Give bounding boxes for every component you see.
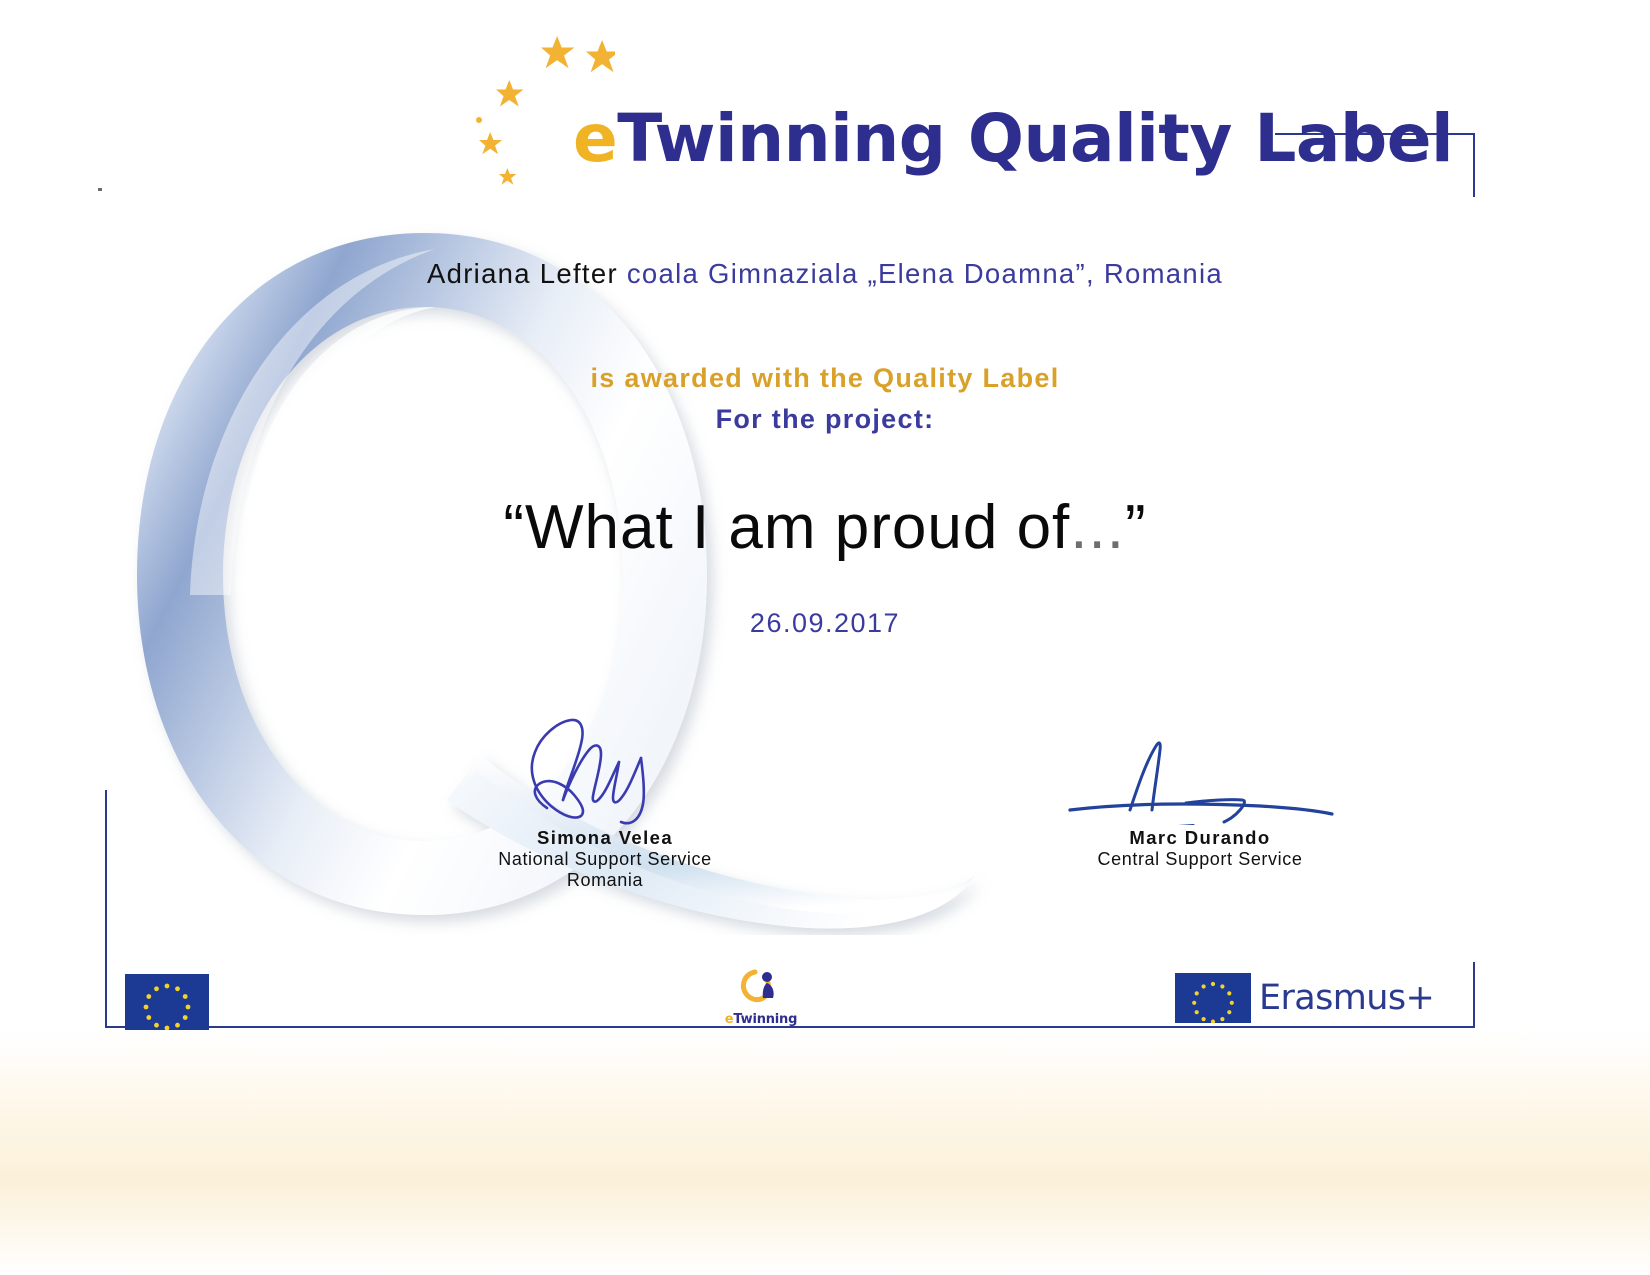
quote-open: “: [503, 493, 525, 562]
certificate-page: eTwinning Quality Label Adriana Lefter c…: [0, 0, 1650, 1275]
award-date: 26.09.2017: [0, 608, 1650, 639]
quote-close: ”: [1125, 493, 1147, 562]
project-title-ellipsis: ...: [1070, 493, 1125, 562]
european-union-flag-icon: [1175, 973, 1251, 1023]
signature-role-line2: Romania: [400, 870, 810, 891]
signature-role-line1: Central Support Service: [980, 849, 1420, 870]
recipient-school: coala Gimnaziala „Elena Doamna”, Romania: [627, 258, 1223, 289]
handwritten-signature-icon: [505, 700, 705, 825]
etwinning-caption-rest: Twinning: [733, 1012, 797, 1027]
signature-name: Marc Durando: [980, 827, 1420, 849]
etwinning-footer-logo: eTwinning: [702, 968, 820, 1028]
signature-name: Simona Velea: [400, 827, 810, 849]
handwritten-signature-icon: [1060, 710, 1340, 825]
signature-block-left: Simona Velea National Support Service Ro…: [400, 700, 810, 891]
etwinning-logo-icon: [737, 968, 785, 1008]
recipient-line: Adriana Lefter coala Gimnaziala „Elena D…: [0, 258, 1650, 290]
award-statement: is awarded with the Quality Label: [0, 363, 1650, 394]
logo-wordmark: eTwinning Quality Label: [573, 100, 1453, 177]
logo-wordmark-rest: Twinning Quality Label: [617, 100, 1453, 177]
signature-block-right: Marc Durando Central Support Service: [980, 710, 1420, 870]
european-union-flag-icon: [125, 974, 209, 1030]
signature-role-line1: National Support Service: [400, 849, 810, 870]
etwinning-quality-label-logo: eTwinning Quality Label: [455, 28, 1285, 203]
erasmus-plus-logo: Erasmus+: [1175, 972, 1434, 1024]
project-title: “What I am proud of...”: [0, 492, 1650, 563]
frame-top-right-vertical: [1473, 133, 1475, 197]
recipient-person: Adriana Lefter: [427, 258, 627, 289]
logo-wordmark-e: e: [573, 100, 617, 177]
for-project-label: For the project:: [0, 404, 1650, 435]
project-title-text: What I am proud of: [525, 493, 1070, 562]
cream-gradient-band: [0, 1030, 1650, 1275]
etwinning-footer-caption: eTwinning: [702, 1012, 820, 1027]
erasmus-plus-label: Erasmus+: [1259, 978, 1434, 1018]
footer-logo-strip: eTwinning: [105, 960, 1475, 1026]
frame-corner-dot: [98, 188, 102, 191]
